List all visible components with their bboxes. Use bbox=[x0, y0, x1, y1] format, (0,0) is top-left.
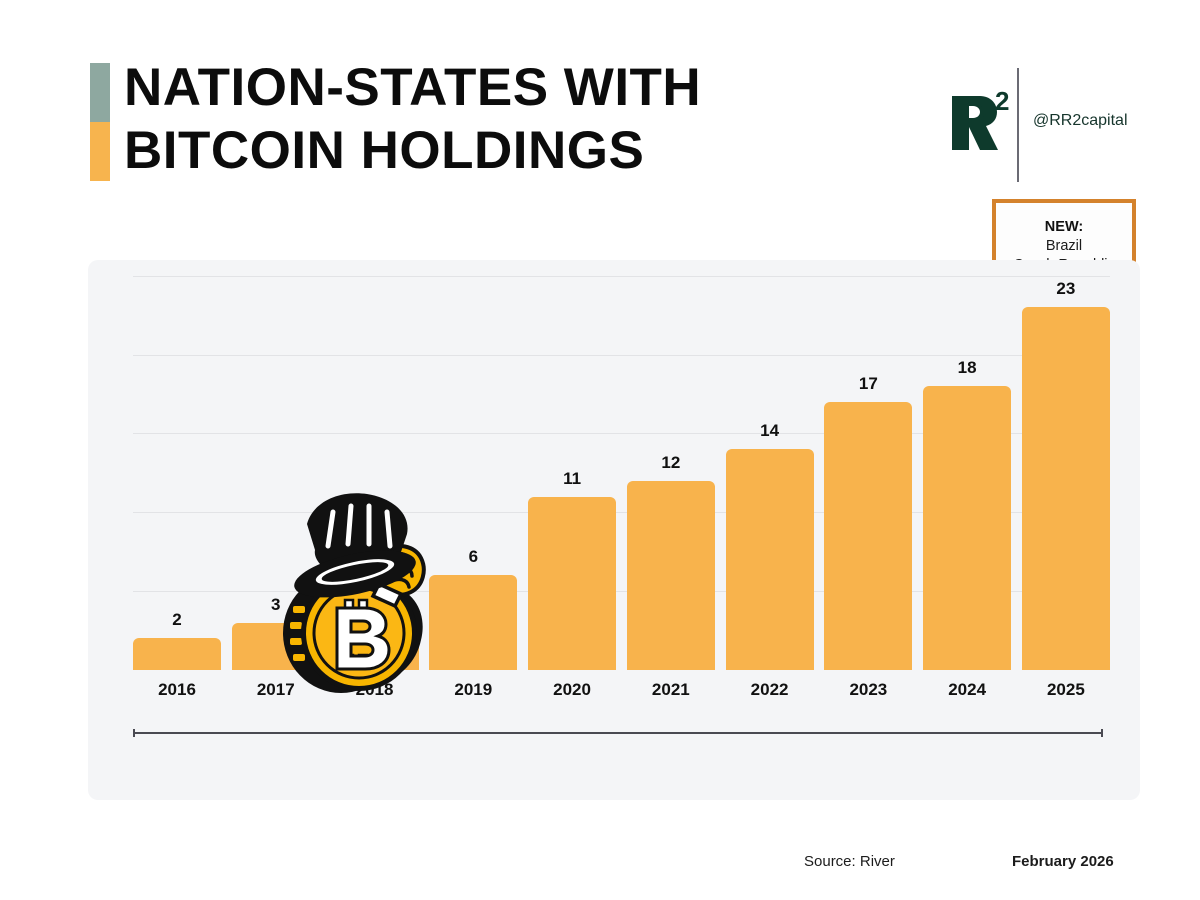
x-axis-label: 2022 bbox=[726, 680, 814, 700]
x-axis-label: 2024 bbox=[923, 680, 1011, 700]
x-axis-label: 2023 bbox=[824, 680, 912, 700]
bar-column[interactable]: 12 bbox=[627, 260, 715, 670]
footer-source: Source: River bbox=[804, 853, 895, 870]
title-accent-bar bbox=[90, 63, 110, 181]
bar[interactable] bbox=[133, 638, 221, 670]
x-axis-label: 2016 bbox=[133, 680, 221, 700]
x-axis-line bbox=[133, 732, 1103, 734]
x-axis-label: 2020 bbox=[528, 680, 616, 700]
page-title-line-2: BITCOIN HOLDINGS bbox=[124, 119, 824, 182]
bar-value-label: 14 bbox=[726, 421, 814, 441]
brand-handle: @RR2capital bbox=[1033, 112, 1128, 130]
bar-value-label: 18 bbox=[923, 358, 1011, 378]
x-axis-label: 2021 bbox=[627, 680, 715, 700]
svg-text:2: 2 bbox=[995, 88, 1009, 116]
title-accent-bottom bbox=[90, 122, 110, 181]
brand-divider bbox=[1017, 68, 1019, 182]
bar-column[interactable]: 17 bbox=[824, 260, 912, 670]
page-title: NATION-STATES WITH BITCOIN HOLDINGS bbox=[124, 56, 824, 182]
bar[interactable] bbox=[923, 386, 1011, 670]
title-accent-top bbox=[90, 63, 110, 122]
bitcoin-coin-tipping-hat-icon bbox=[271, 488, 451, 713]
bar-column[interactable]: 18 bbox=[923, 260, 1011, 670]
bar-column[interactable]: 11 bbox=[528, 260, 616, 670]
bar-column[interactable]: 2 bbox=[133, 260, 221, 670]
bar-value-label: 23 bbox=[1022, 279, 1110, 299]
callout-title: NEW: bbox=[996, 218, 1132, 237]
axis-cap-right bbox=[1101, 729, 1103, 737]
bar[interactable] bbox=[528, 497, 616, 670]
bar-value-label: 11 bbox=[528, 469, 616, 489]
bar[interactable] bbox=[1022, 307, 1110, 670]
callout-item: Brazil bbox=[996, 237, 1132, 256]
header: NATION-STATES WITH BITCOIN HOLDINGS 2 @R… bbox=[0, 0, 1200, 195]
bar-value-label: 17 bbox=[824, 374, 912, 394]
bar-column[interactable]: 23 bbox=[1022, 260, 1110, 670]
brand-block: 2 @RR2capital bbox=[900, 62, 1160, 187]
bar[interactable] bbox=[627, 481, 715, 670]
bar-value-label: 12 bbox=[627, 453, 715, 473]
rr2-logo-icon: 2 bbox=[900, 88, 1010, 158]
axis-cap-left bbox=[133, 729, 135, 737]
page-title-line-1: NATION-STATES WITH bbox=[124, 56, 824, 119]
bar[interactable] bbox=[726, 449, 814, 670]
bar-value-label: 2 bbox=[133, 610, 221, 630]
chart-panel: 2346111214171823 20162017201820192020202… bbox=[88, 260, 1140, 800]
footer-date: February 2026 bbox=[1012, 853, 1114, 870]
bar-column[interactable]: 14 bbox=[726, 260, 814, 670]
x-axis-label: 2025 bbox=[1022, 680, 1110, 700]
bar[interactable] bbox=[824, 402, 912, 670]
